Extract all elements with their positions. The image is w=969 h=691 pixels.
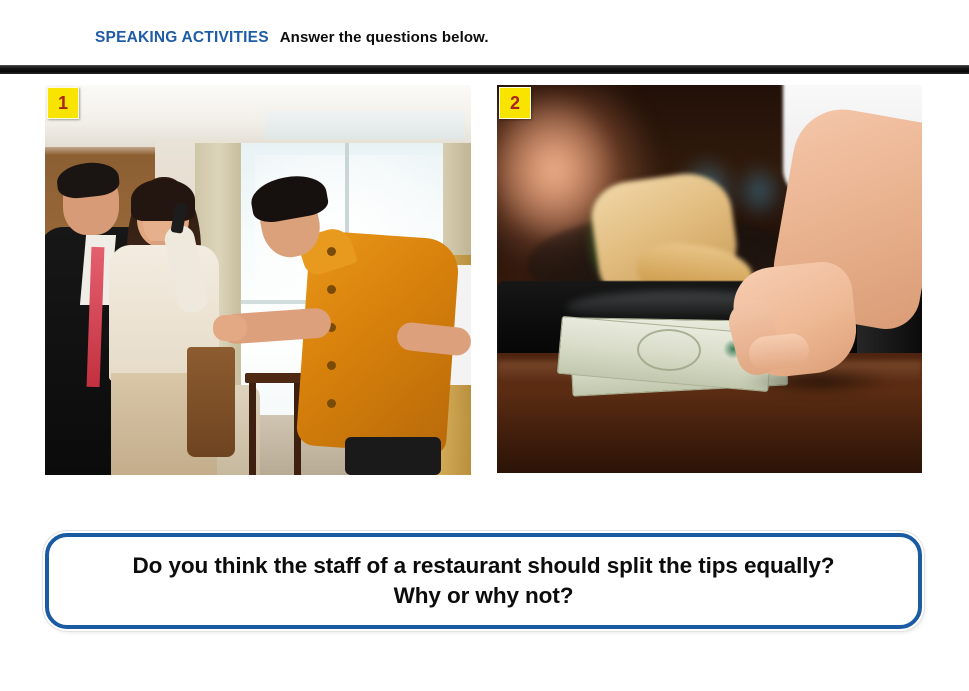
page-header: SPEAKING ACTIVITIES Answer the questions…	[0, 0, 969, 66]
bellhop-hand-receiving-tip	[213, 315, 247, 341]
section-label: SPEAKING ACTIVITIES	[95, 29, 269, 47]
dollar-bill-portrait-oval	[637, 328, 702, 371]
side-table-top	[245, 373, 305, 383]
background-bokeh-2	[735, 163, 783, 219]
question-line-1: Do you think the staff of a restaurant s…	[133, 551, 835, 581]
image-number-badge-1: 1	[47, 87, 79, 119]
photo-1-illustration	[45, 85, 471, 475]
photo-panel-2[interactable]: 2	[497, 85, 922, 473]
question-text: Do you think the staff of a restaurant s…	[133, 551, 835, 611]
section-instruction: Answer the questions below.	[280, 29, 489, 46]
question-line-2: Why or why not?	[133, 581, 835, 611]
side-table-leg-left	[249, 383, 256, 475]
image-row: 1	[0, 85, 969, 477]
leather-bag	[187, 347, 235, 457]
photo-panel-1[interactable]: 1	[45, 85, 471, 475]
bellhop-trousers	[345, 437, 441, 475]
image-number-badge-2: 2	[499, 87, 531, 119]
hotel-ceiling-panel	[265, 111, 465, 139]
bellhop-uniform-buttons	[327, 247, 336, 437]
question-box: Do you think the staff of a restaurant s…	[45, 533, 922, 629]
photo-2-illustration	[497, 85, 922, 473]
header-text-group: SPEAKING ACTIVITIES Answer the questions…	[95, 29, 489, 47]
header-divider-bar	[0, 65, 969, 74]
hotel-side-table	[245, 373, 305, 475]
